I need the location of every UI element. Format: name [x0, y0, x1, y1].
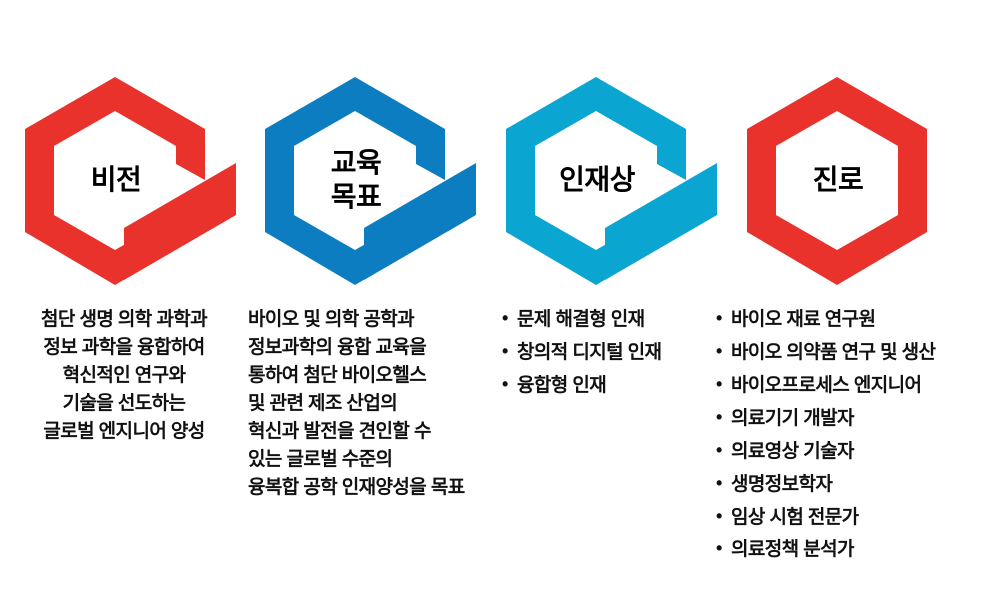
list-item: 바이오 재료 연구원 — [716, 306, 1002, 334]
hexagon-ring-icon — [481, 60, 731, 300]
description-line: 혁신과 발전을 견인할 수 — [248, 418, 498, 446]
description-line: 정보 과학을 융합하여 — [8, 334, 240, 362]
list-item: 의료기기 개발자 — [716, 405, 1002, 433]
description-column-career: 바이오 재료 연구원 바이오 의약품 연구 및 생산 바이오프로세스 엔지니어 … — [716, 306, 1002, 569]
career-bullet-list: 바이오 재료 연구원 바이오 의약품 연구 및 생산 바이오프로세스 엔지니어 … — [716, 306, 1002, 564]
list-item: 바이오프로세스 엔지니어 — [716, 372, 1002, 400]
description-column-goal: 바이오 및 의학 공학과 정보과학의 융합 교육을 통하여 첨단 바이오헬스 및… — [248, 306, 498, 501]
list-item: 융합형 인재 — [502, 372, 712, 400]
hexagon-ring-icon — [240, 60, 490, 300]
hexagon-badge-vision[interactable]: 비전 — [0, 60, 250, 300]
description-line: 있는 글로벌 수준의 — [248, 446, 498, 474]
description-line: 기술을 선도하는 — [8, 390, 240, 418]
list-item: 문제 해결형 인재 — [502, 306, 712, 334]
description-line: 바이오 및 의학 공학과 — [248, 306, 498, 334]
curriculum-diagram: 비전 교육 목표 인재상 — [0, 0, 1002, 603]
description-line: 글로벌 엔지니어 양성 — [8, 418, 240, 446]
description-column-talent: 문제 해결형 인재 창의적 디지털 인재 융합형 인재 — [502, 306, 712, 405]
hexagon-badge-career[interactable]: 진로 — [722, 60, 972, 300]
description-line: 첨단 생명 의학 과학과 — [8, 306, 240, 334]
description-line: 통하여 첨단 바이오헬스 — [248, 362, 498, 390]
list-item: 임상 시험 전문가 — [716, 504, 1002, 532]
hexagon-badge-talent[interactable]: 인재상 — [481, 60, 731, 300]
list-item: 바이오 의약품 연구 및 생산 — [716, 339, 1002, 367]
list-item: 창의적 디지털 인재 — [502, 339, 712, 367]
description-line: 혁신적인 연구와 — [8, 362, 240, 390]
list-item: 의료정책 분석가 — [716, 536, 1002, 564]
talent-bullet-list: 문제 해결형 인재 창의적 디지털 인재 융합형 인재 — [502, 306, 712, 400]
hexagon-badge-row: 비전 교육 목표 인재상 — [0, 0, 1002, 300]
hexagon-ring-icon — [722, 60, 972, 300]
list-item: 생명정보학자 — [716, 471, 1002, 499]
description-line: 융복합 공학 인재양성을 목표 — [248, 474, 498, 502]
hexagon-ring-icon — [0, 60, 250, 300]
list-item: 의료영상 기술자 — [716, 438, 1002, 466]
description-line: 정보과학의 융합 교육을 — [248, 334, 498, 362]
description-column-vision: 첨단 생명 의학 과학과 정보 과학을 융합하여 혁신적인 연구와 기술을 선도… — [8, 306, 240, 446]
hexagon-badge-goal[interactable]: 교육 목표 — [240, 60, 490, 300]
description-line: 및 관련 제조 산업의 — [248, 390, 498, 418]
